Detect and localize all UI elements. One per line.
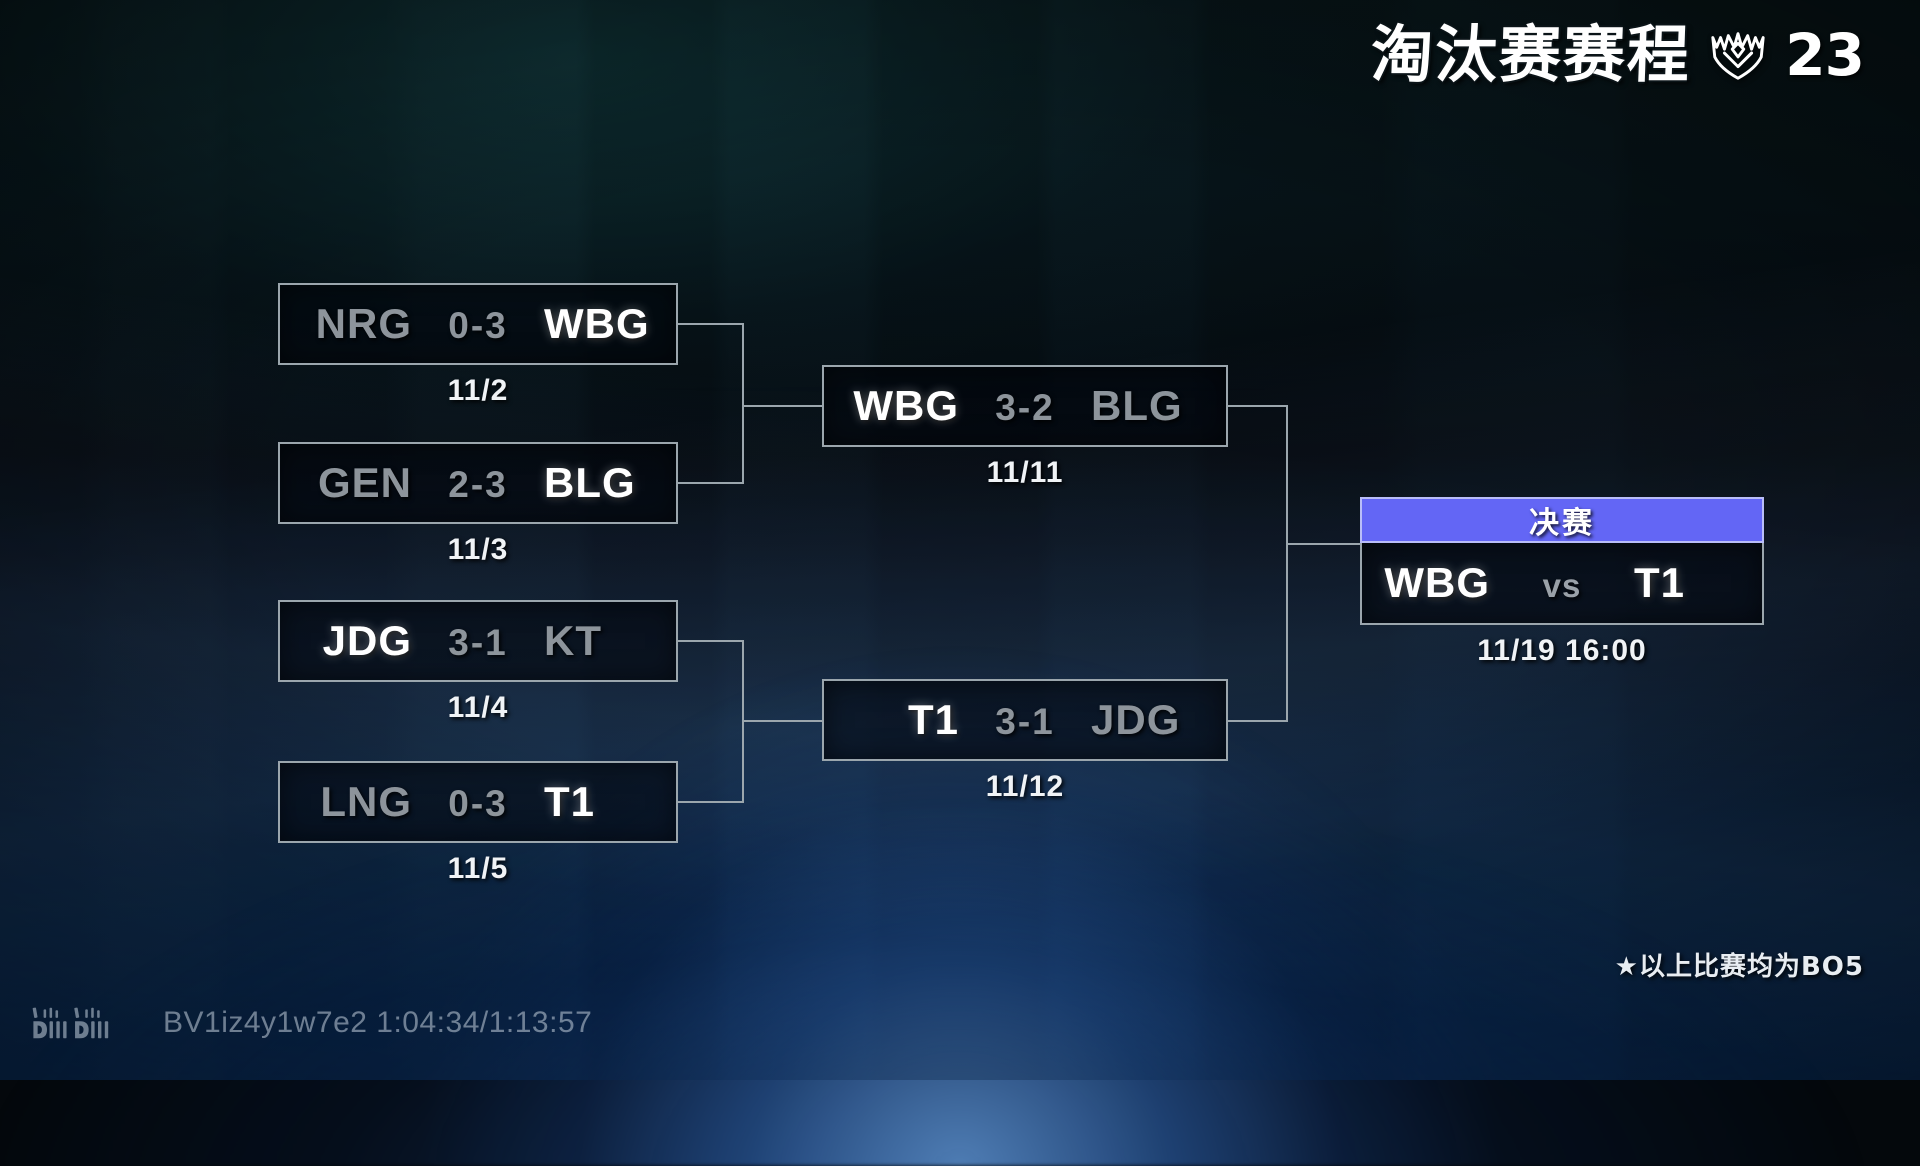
team-right: BLG bbox=[544, 459, 670, 507]
match-box[interactable]: GEN 2-3 BLG bbox=[278, 442, 678, 524]
match-semifinal-2[interactable]: T1 3-1 JDG 11/12 bbox=[822, 679, 1228, 804]
header-year: 23 bbox=[1785, 26, 1864, 84]
team-left: NRG bbox=[286, 300, 412, 348]
connector-qf1-stub bbox=[678, 323, 744, 325]
header: 淘汰赛赛程 23 bbox=[1371, 24, 1864, 86]
bracket: NRG 0-3 WBG 11/2 GEN 2-3 BLG 11/3 JDG 3-… bbox=[0, 0, 1920, 1080]
connector-sf-join bbox=[1286, 405, 1288, 722]
match-score: 3-1 bbox=[959, 701, 1091, 743]
match-teams: GEN 2-3 BLG bbox=[280, 459, 676, 507]
connector-sf1-feed bbox=[742, 405, 824, 407]
team-left: LNG bbox=[286, 778, 412, 826]
match-semifinal-1[interactable]: WBG 3-2 BLG 11/11 bbox=[822, 365, 1228, 490]
match-score: 3-1 bbox=[412, 622, 544, 664]
match-date: 11/4 bbox=[278, 691, 678, 725]
final-date: 11/19 16:00 bbox=[1360, 634, 1764, 668]
team-left: WBG bbox=[1364, 559, 1490, 607]
match-teams: LNG 0-3 T1 bbox=[280, 778, 676, 826]
bilibili-watermark: BV1iz4y1w7e2 1:04:34/1:13:57 bbox=[30, 1006, 592, 1040]
bo5-footnote: ★以上比赛均为BO5 bbox=[1615, 946, 1864, 983]
team-left: GEN bbox=[286, 459, 412, 507]
match-teams: T1 3-1 JDG bbox=[824, 696, 1226, 744]
final-header-label: 决赛 bbox=[1529, 498, 1595, 542]
match-quarterfinal-2[interactable]: GEN 2-3 BLG 11/3 bbox=[278, 442, 678, 567]
bilibili-logo-icon bbox=[30, 1006, 149, 1040]
team-right: T1 bbox=[1634, 559, 1760, 607]
match-date: 11/3 bbox=[278, 533, 678, 567]
connector-qf4-stub bbox=[678, 801, 744, 803]
final-match-box[interactable]: WBG vs T1 bbox=[1360, 543, 1764, 625]
match-teams: WBG vs T1 bbox=[1362, 559, 1762, 607]
match-final[interactable]: 决赛 WBG vs T1 11/19 16:00 bbox=[1360, 497, 1764, 668]
match-quarterfinal-1[interactable]: NRG 0-3 WBG 11/2 bbox=[278, 283, 678, 408]
team-right: JDG bbox=[1091, 696, 1217, 744]
connector-sf2-out bbox=[1228, 720, 1288, 722]
match-teams: JDG 3-1 KT bbox=[280, 617, 676, 665]
team-left: T1 bbox=[833, 696, 959, 744]
connector-qf2-stub bbox=[678, 482, 744, 484]
team-right: WBG bbox=[544, 300, 670, 348]
match-quarterfinal-3[interactable]: JDG 3-1 KT 11/4 bbox=[278, 600, 678, 725]
match-box[interactable]: T1 3-1 JDG bbox=[822, 679, 1228, 761]
match-date: 11/5 bbox=[278, 852, 678, 886]
final-header-banner: 决赛 bbox=[1360, 497, 1764, 543]
match-teams: NRG 0-3 WBG bbox=[280, 300, 676, 348]
connector-final-feed bbox=[1286, 543, 1362, 545]
team-left: WBG bbox=[833, 382, 959, 430]
vs-label: vs bbox=[1490, 567, 1634, 605]
connector-sf2-feed bbox=[742, 720, 824, 722]
match-score: 0-3 bbox=[412, 783, 544, 825]
connector-qf3-stub bbox=[678, 640, 744, 642]
match-box[interactable]: WBG 3-2 BLG bbox=[822, 365, 1228, 447]
match-score: 3-2 bbox=[959, 387, 1091, 429]
match-box[interactable]: NRG 0-3 WBG bbox=[278, 283, 678, 365]
match-box[interactable]: LNG 0-3 T1 bbox=[278, 761, 678, 843]
worlds-crown-icon bbox=[1707, 24, 1769, 86]
match-date: 11/12 bbox=[822, 770, 1228, 804]
team-right: BLG bbox=[1091, 382, 1217, 430]
match-teams: WBG 3-2 BLG bbox=[824, 382, 1226, 430]
team-left: JDG bbox=[286, 617, 412, 665]
team-right: KT bbox=[544, 617, 670, 665]
match-box[interactable]: JDG 3-1 KT bbox=[278, 600, 678, 682]
team-right: T1 bbox=[544, 778, 670, 826]
match-score: 0-3 bbox=[412, 305, 544, 347]
connector-sf1-out bbox=[1228, 405, 1288, 407]
connector-qf12-join bbox=[742, 323, 744, 484]
match-score: 2-3 bbox=[412, 464, 544, 506]
match-date: 11/11 bbox=[822, 456, 1228, 490]
page-title: 淘汰赛赛程 bbox=[1370, 24, 1692, 86]
match-quarterfinal-4[interactable]: LNG 0-3 T1 11/5 bbox=[278, 761, 678, 886]
watermark-text: BV1iz4y1w7e2 1:04:34/1:13:57 bbox=[163, 1006, 592, 1040]
match-date: 11/2 bbox=[278, 374, 678, 408]
